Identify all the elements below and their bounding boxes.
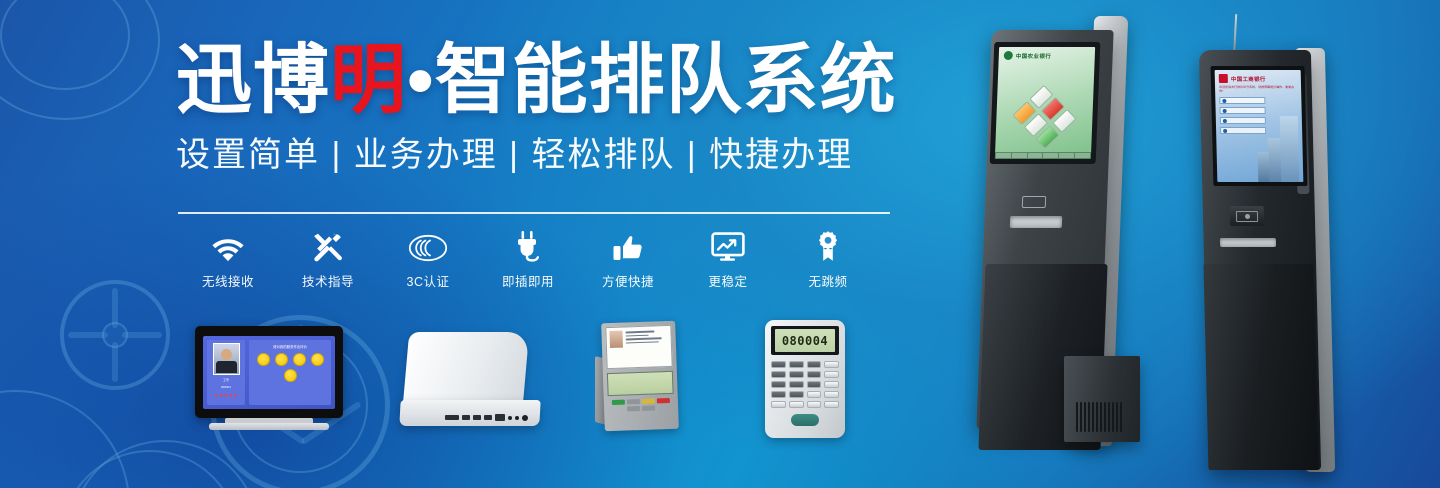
ticket-dispenser-slot	[1220, 238, 1276, 247]
ticket-slot-icon	[1022, 196, 1046, 208]
headline-divider	[178, 212, 890, 214]
keypad-key[interactable]	[824, 371, 839, 378]
page-subtitle: 设置简单 | 业务办理 | 轻松排队 | 快捷办理	[176, 132, 897, 178]
bank-name: 中国工商银行	[1231, 75, 1266, 83]
building-tower	[1267, 138, 1281, 182]
port-ethernet	[495, 414, 505, 421]
feature-item-no-hopping: 无跳频	[778, 226, 878, 290]
keypad-body: 080004	[765, 320, 845, 438]
monitor-staff-card: 工号 000001 ★★★★★	[207, 340, 245, 405]
emotion-button[interactable]	[293, 353, 306, 366]
staff-id: 000001	[221, 385, 231, 389]
feature-label: 无线接收	[202, 271, 254, 290]
emotion-button[interactable]	[257, 353, 270, 366]
staff-photo	[213, 343, 240, 375]
title-separator-dot: •	[407, 38, 435, 123]
evaluator-lcd	[607, 371, 674, 396]
vent-slat	[1104, 402, 1106, 432]
keypad-enter-button[interactable]	[791, 414, 819, 426]
product-evaluation-monitor: 工号 000001 ★★★★★ 请对我的服务作出评价	[195, 318, 345, 438]
evaluator-button-satisfied[interactable]	[612, 400, 625, 405]
keypad-key[interactable]	[807, 381, 822, 388]
footer-cell	[1028, 153, 1043, 158]
id-line	[626, 334, 649, 336]
wifi-icon	[211, 226, 245, 262]
menu-bullet-icon	[1222, 99, 1226, 103]
kiosk-menu-tiles[interactable]	[1012, 85, 1076, 149]
footer-cell	[1075, 153, 1090, 158]
kiosk-notice: 欢迎使用本行排队叫号系统，请按屏幕提示操作，谢谢合作！	[1215, 83, 1301, 93]
vent-slat	[1092, 402, 1094, 432]
port-audio	[515, 416, 519, 420]
kiosk-menu-item[interactable]	[1219, 97, 1265, 104]
small-gear-spoke	[68, 332, 108, 338]
id-text-lines	[625, 329, 668, 364]
kiosk-screen[interactable]: 中国农业银行	[995, 47, 1095, 159]
feature-list: 无线接收 技术指导	[178, 226, 898, 290]
vent-slat	[1096, 402, 1098, 432]
feature-label: 方便快捷	[602, 271, 654, 290]
card-reader-indicator	[1244, 214, 1249, 219]
keypad-display-frame: 080004	[771, 326, 839, 355]
page-title: 迅博明•智能排队系统	[176, 38, 897, 124]
staff-name: 工号	[223, 378, 229, 382]
menu-bullet-icon	[1223, 129, 1227, 133]
feature-label: 技术指导	[302, 271, 354, 290]
menu-bullet-icon	[1223, 109, 1227, 113]
evaluator-button-unsatisfied[interactable]	[657, 398, 670, 403]
evaluator-body	[601, 321, 679, 432]
headline-block: 迅博明•智能排队系统 设置简单 | 业务办理 | 轻松排队 | 快捷办理	[176, 38, 897, 178]
kiosk-lower-body	[1203, 264, 1318, 470]
vent-slat	[1116, 402, 1118, 432]
vent-slat	[1120, 402, 1122, 432]
keypad-key[interactable]	[771, 361, 786, 368]
feature-item-plug: 即插即用	[478, 226, 578, 290]
host-base	[399, 400, 540, 426]
vent-slat	[1084, 402, 1086, 432]
vent-slat	[1080, 402, 1082, 432]
icbc-logo-icon	[1219, 74, 1228, 83]
feature-item-ccc: 3C认证	[378, 226, 478, 290]
staff-torso	[216, 361, 237, 373]
host-port-row	[445, 414, 528, 421]
keypad-key[interactable]	[807, 391, 822, 398]
bank-logo-icon	[1004, 51, 1013, 60]
kiosk-screen-header: 中国工商银行	[1215, 70, 1301, 83]
keypad-key[interactable]	[771, 381, 786, 388]
kiosk-screen-header: 中国农业银行	[999, 47, 1095, 60]
vent-slats	[1076, 402, 1122, 432]
id-line	[626, 341, 659, 344]
product-showcase: 工号 000001 ★★★★★ 请对我的服务作出评价	[195, 318, 895, 458]
evaluator-id-card	[605, 325, 672, 369]
promo-banner: 迅博明•智能排队系统 设置简单 | 业务办理 | 轻松排队 | 快捷办理 无线接…	[0, 0, 1440, 488]
keypad-key[interactable]	[771, 391, 786, 398]
id-line	[625, 330, 654, 333]
keypad-key[interactable]	[807, 361, 822, 368]
ccc-icon	[408, 226, 448, 262]
keypad-key[interactable]	[824, 391, 839, 398]
product-desktop-evaluator	[595, 322, 695, 438]
building-tower	[1280, 116, 1300, 182]
keypad-key[interactable]	[789, 361, 804, 368]
rating-stars: ★★★★★	[214, 393, 238, 399]
keypad-key[interactable]	[789, 381, 804, 388]
feature-item-thumbs-up: 方便快捷	[578, 226, 678, 290]
feature-item-wifi: 无线接收	[178, 226, 278, 290]
keypad-display-number: 080004	[782, 334, 828, 348]
keypad-key[interactable]	[807, 371, 822, 378]
keypad-key[interactable]	[771, 401, 786, 408]
evaluator-button[interactable]	[627, 406, 640, 411]
feature-label: 3C认证	[407, 271, 450, 290]
keypad-key[interactable]	[807, 401, 822, 408]
award-ribbon-icon	[815, 226, 841, 262]
kiosk-screen-bezel: 中国工商银行 欢迎使用本行排队叫号系统，请按屏幕提示操作，谢谢合作！	[1211, 66, 1308, 186]
footer-cell	[1059, 153, 1074, 158]
staff-face	[221, 349, 232, 360]
plug-icon	[513, 226, 543, 262]
skyline-graphic	[1254, 112, 1302, 182]
keypad-key[interactable]	[789, 391, 804, 398]
footer-cell	[1043, 153, 1058, 158]
evaluator-button-neutral[interactable]	[642, 398, 655, 403]
feature-label: 即插即用	[502, 271, 554, 290]
menu-bullet-icon	[1223, 119, 1227, 123]
kiosk-screen[interactable]: 中国工商银行 欢迎使用本行排队叫号系统，请按屏幕提示操作，谢谢合作！	[1215, 70, 1304, 182]
title-accent-char: 明	[330, 38, 407, 123]
keypad-key[interactable]	[824, 401, 839, 408]
product-keypad-terminal: 080004	[765, 320, 851, 442]
title-part-1: 迅博	[176, 38, 330, 123]
queue-kiosk-green: 中国农业银行	[966, 16, 1176, 488]
kiosk-vent-housing	[1064, 356, 1140, 442]
monitor-stand	[209, 423, 329, 430]
evaluator-button[interactable]	[642, 405, 655, 410]
kiosk-screen-bezel: 中国农业银行	[990, 42, 1101, 164]
tools-icon	[312, 226, 344, 262]
small-gear-spoke	[112, 342, 118, 382]
footer-cell	[996, 153, 1011, 158]
port-serial	[445, 415, 459, 420]
id-line	[626, 337, 662, 340]
host-upper-shell	[403, 332, 529, 406]
vent-slat	[1088, 402, 1090, 432]
port-usb	[462, 415, 470, 420]
building-tower	[1258, 152, 1270, 182]
feature-item-stability: 更稳定	[678, 226, 778, 290]
monitor-body: 工号 000001 ★★★★★ 请对我的服务作出评价	[195, 326, 343, 418]
card-reader-window	[1236, 211, 1258, 222]
vent-slat	[1108, 402, 1110, 432]
emotion-buttons[interactable]	[249, 353, 331, 382]
monitor-chart-icon	[711, 226, 745, 262]
kiosk-screen-footer-bar	[995, 152, 1091, 159]
title-part-2: 智能排队系统	[435, 38, 897, 123]
feature-label: 更稳定	[708, 271, 747, 290]
keypad-key[interactable]	[789, 401, 804, 408]
vent-slat	[1112, 402, 1114, 432]
survey-question: 请对我的服务作出评价	[249, 344, 331, 349]
keypad-key[interactable]	[824, 381, 839, 388]
emotion-button[interactable]	[311, 353, 324, 366]
emotion-button[interactable]	[275, 353, 288, 366]
small-gear-spoke	[122, 332, 162, 338]
keypad-key[interactable]	[789, 371, 804, 378]
keypad-lcd: 080004	[775, 329, 835, 352]
bank-name: 中国农业银行	[1016, 52, 1052, 60]
keypad-key[interactable]	[824, 361, 839, 368]
monitor-screen: 工号 000001 ★★★★★ 请对我的服务作出评价	[203, 336, 335, 409]
small-gear-spoke	[112, 288, 118, 328]
evaluator-buttons[interactable]	[608, 398, 674, 412]
monitor-survey: 请对我的服务作出评价	[249, 340, 331, 405]
ticket-dispenser-slot	[1010, 216, 1062, 228]
evaluator-button[interactable]	[627, 399, 640, 404]
card-reader[interactable]	[1230, 206, 1264, 226]
queue-kiosk-icbc: 中国工商银行 欢迎使用本行排队叫号系统，请按屏幕提示操作，谢谢合作！	[1190, 14, 1370, 488]
keypad-keys[interactable]	[771, 361, 839, 408]
feature-item-tools: 技术指导	[278, 226, 378, 290]
port-audio	[508, 416, 512, 420]
port-power	[522, 415, 528, 421]
emotion-button[interactable]	[284, 369, 297, 382]
id-photo	[609, 331, 623, 348]
keypad-key[interactable]	[771, 371, 786, 378]
port-usb	[473, 415, 481, 420]
vent-slat	[1076, 402, 1078, 432]
product-host-controller	[400, 330, 550, 440]
footer-cell	[1012, 153, 1027, 158]
thumbs-up-icon	[612, 226, 644, 262]
vent-slat	[1100, 402, 1102, 432]
feature-label: 无跳频	[808, 271, 847, 290]
port-usb	[484, 415, 492, 420]
